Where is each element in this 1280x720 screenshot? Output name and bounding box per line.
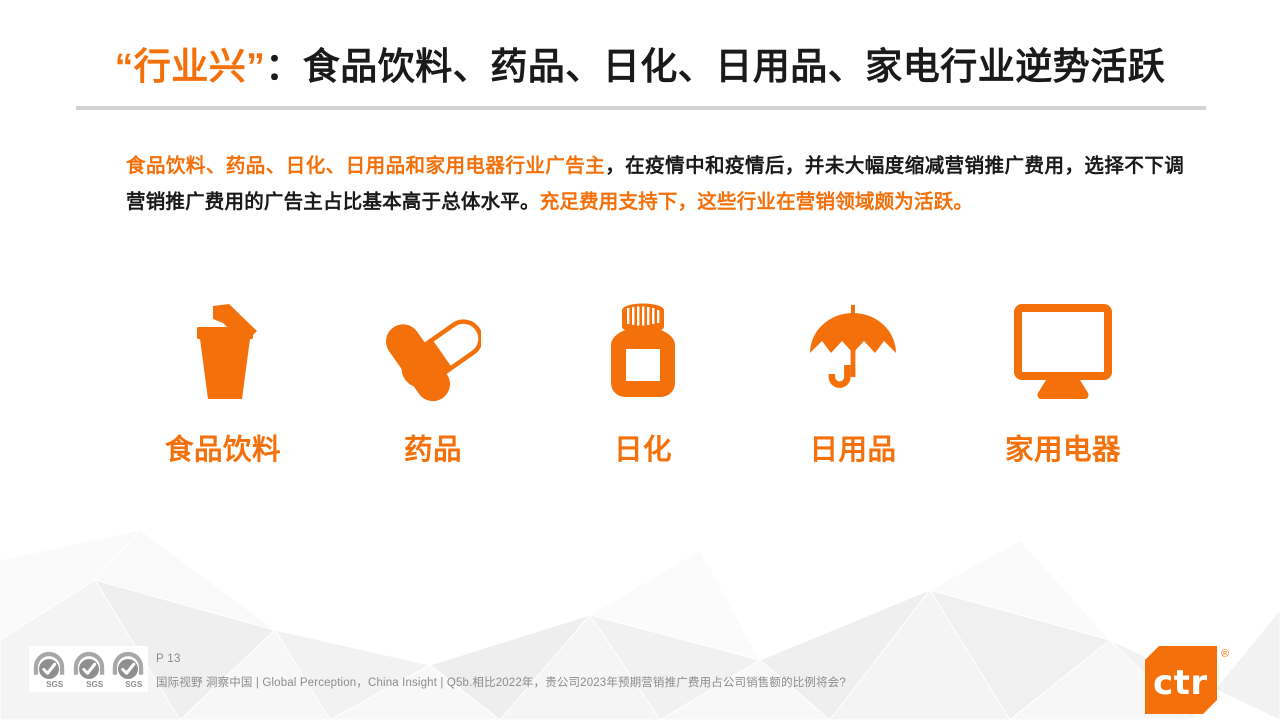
title-divider <box>76 106 1206 110</box>
svg-text:SGS: SGS <box>46 680 64 689</box>
industry-item-food-beverage: 食品饮料 <box>128 296 318 468</box>
registered-trademark-icon: ® <box>1221 648 1229 660</box>
capsule-pills-icon <box>385 296 481 401</box>
low-poly-background <box>0 520 1280 720</box>
industry-item-household-chem: 日化 <box>548 296 738 468</box>
title-block: “行业兴”：食品饮料、药品、日化、日用品、家电行业逆势活跃 <box>0 44 1280 114</box>
industry-label: 家用电器 <box>1005 427 1121 468</box>
ctr-logo: ctr ® <box>1145 646 1280 716</box>
ctr-wordmark: ctr <box>1153 664 1225 702</box>
industry-item-appliances: 家用电器 <box>968 296 1158 468</box>
page-title-rest: 食品饮料、药品、日化、日用品、家电行业逆势活跃 <box>303 46 1166 87</box>
industry-label: 日化 <box>614 427 672 468</box>
sgs-icon: SGS <box>30 647 68 691</box>
sgs-certification-group: SGS SGS SGS <box>29 646 148 692</box>
page-title-accent: “行业兴” <box>115 46 266 87</box>
slide-canvas: “行业兴”：食品饮料、药品、日化、日用品、家电行业逆势活跃 食品饮料、药品、日化… <box>0 0 1280 720</box>
industry-label: 药品 <box>404 427 462 468</box>
svg-text:SGS: SGS <box>86 680 104 689</box>
page-title-separator: ： <box>265 46 303 87</box>
industry-icon-row: 食品饮料 药品 <box>128 296 1158 471</box>
industry-label: 食品饮料 <box>165 427 281 468</box>
sgs-icon: SGS <box>70 647 108 691</box>
lead-paragraph: 食品饮料、药品、日化、日用品和家用电器行业广告主，在疫情中和疫情后，并未大幅度缩… <box>126 148 1184 220</box>
sgs-icon: SGS <box>109 647 147 691</box>
bottle-icon <box>602 296 684 401</box>
page-title: “行业兴”：食品饮料、药品、日化、日用品、家电行业逆势活跃 <box>0 44 1280 90</box>
umbrella-icon <box>806 296 900 401</box>
industry-label: 日用品 <box>809 427 896 468</box>
drink-cup-icon <box>177 296 269 401</box>
lead-highlight-start: 食品饮料、药品、日化、日用品和家用电器行业广告主 <box>126 155 605 177</box>
page-number: P 13 <box>156 653 181 665</box>
footer-source-note: 国际视野 洞察中国 | Global Perception，China Insi… <box>156 674 846 690</box>
industry-item-daily-goods: 日用品 <box>758 296 948 468</box>
svg-text:SGS: SGS <box>125 680 143 689</box>
industry-item-pharma: 药品 <box>338 296 528 468</box>
lead-highlight-end: 充足费用支持下，这些行业在营销领域颇为活跃。 <box>540 191 973 213</box>
monitor-icon <box>1013 296 1113 401</box>
